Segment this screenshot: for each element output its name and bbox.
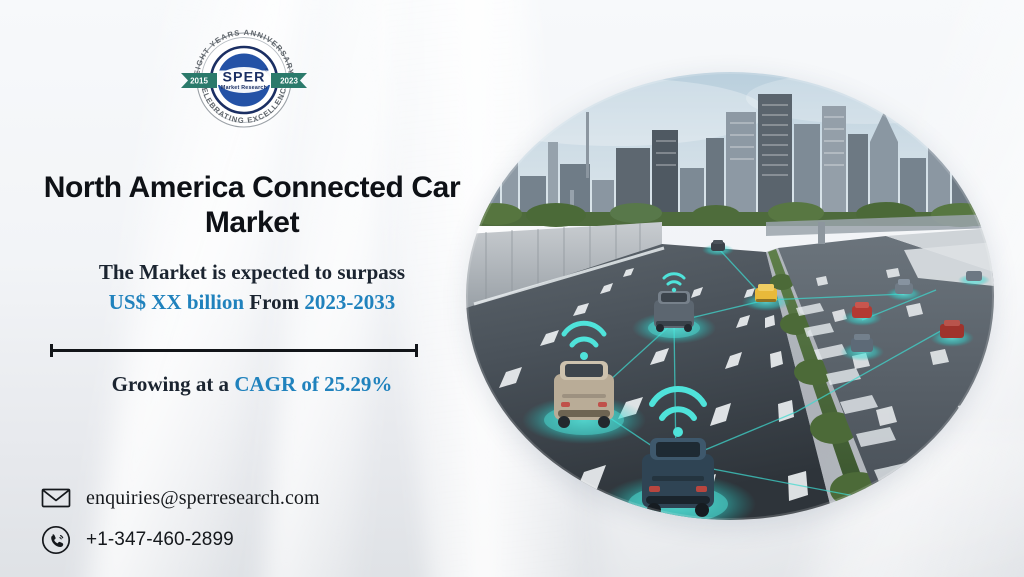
contact-email-text: enquiries@sperresearch.com bbox=[86, 487, 320, 510]
market-statement: The Market is expected to surpass US$ XX… bbox=[32, 258, 472, 318]
sper-logo[interactable]: EIGHT YEARS ANNIVERSARY CELEBRATING EXCE… bbox=[177, 18, 311, 128]
cagr-statement: Growing at a CAGR of 25.29% bbox=[32, 372, 472, 397]
logo-ribbon-left: 2015 bbox=[181, 73, 217, 88]
hero-image-connected-cars bbox=[466, 72, 994, 520]
contact-email[interactable]: enquiries@sperresearch.com bbox=[40, 482, 320, 514]
phone-circle-icon bbox=[40, 524, 72, 556]
vehicle-connected bbox=[702, 240, 734, 256]
market-statement-line2: US$ XX billion From 2023-2033 bbox=[32, 288, 472, 318]
divider-bar bbox=[50, 349, 418, 352]
envelope-icon bbox=[40, 482, 72, 514]
market-connector: From bbox=[249, 290, 299, 314]
cloud bbox=[466, 78, 766, 146]
logo-subwordmark: Market Research bbox=[221, 85, 267, 91]
logo-wordmark: SPER bbox=[222, 70, 265, 86]
cagr-value: CAGR of 25.29% bbox=[234, 372, 392, 396]
market-statement-line1: The Market is expected to surpass bbox=[32, 258, 472, 288]
contact-phone-text: +1-347-460-2899 bbox=[86, 529, 234, 551]
logo-year-2023: 2023 bbox=[280, 77, 298, 86]
poster-canvas: EIGHT YEARS ANNIVERSARY CELEBRATING EXCE… bbox=[0, 0, 1024, 577]
logo-year-2015: 2015 bbox=[190, 77, 208, 86]
logo-ribbon-right: 2023 bbox=[271, 73, 307, 88]
forecast-period: 2023-2033 bbox=[304, 290, 395, 314]
overpass-pillar bbox=[818, 222, 825, 244]
market-value: US$ XX billion bbox=[109, 290, 244, 314]
page-title: North America Connected Car Market bbox=[32, 170, 472, 240]
divider-cap-right bbox=[415, 344, 418, 357]
cagr-prefix: Growing at a bbox=[112, 372, 229, 396]
divider bbox=[50, 344, 418, 356]
contact-phone[interactable]: +1-347-460-2899 bbox=[40, 524, 234, 556]
